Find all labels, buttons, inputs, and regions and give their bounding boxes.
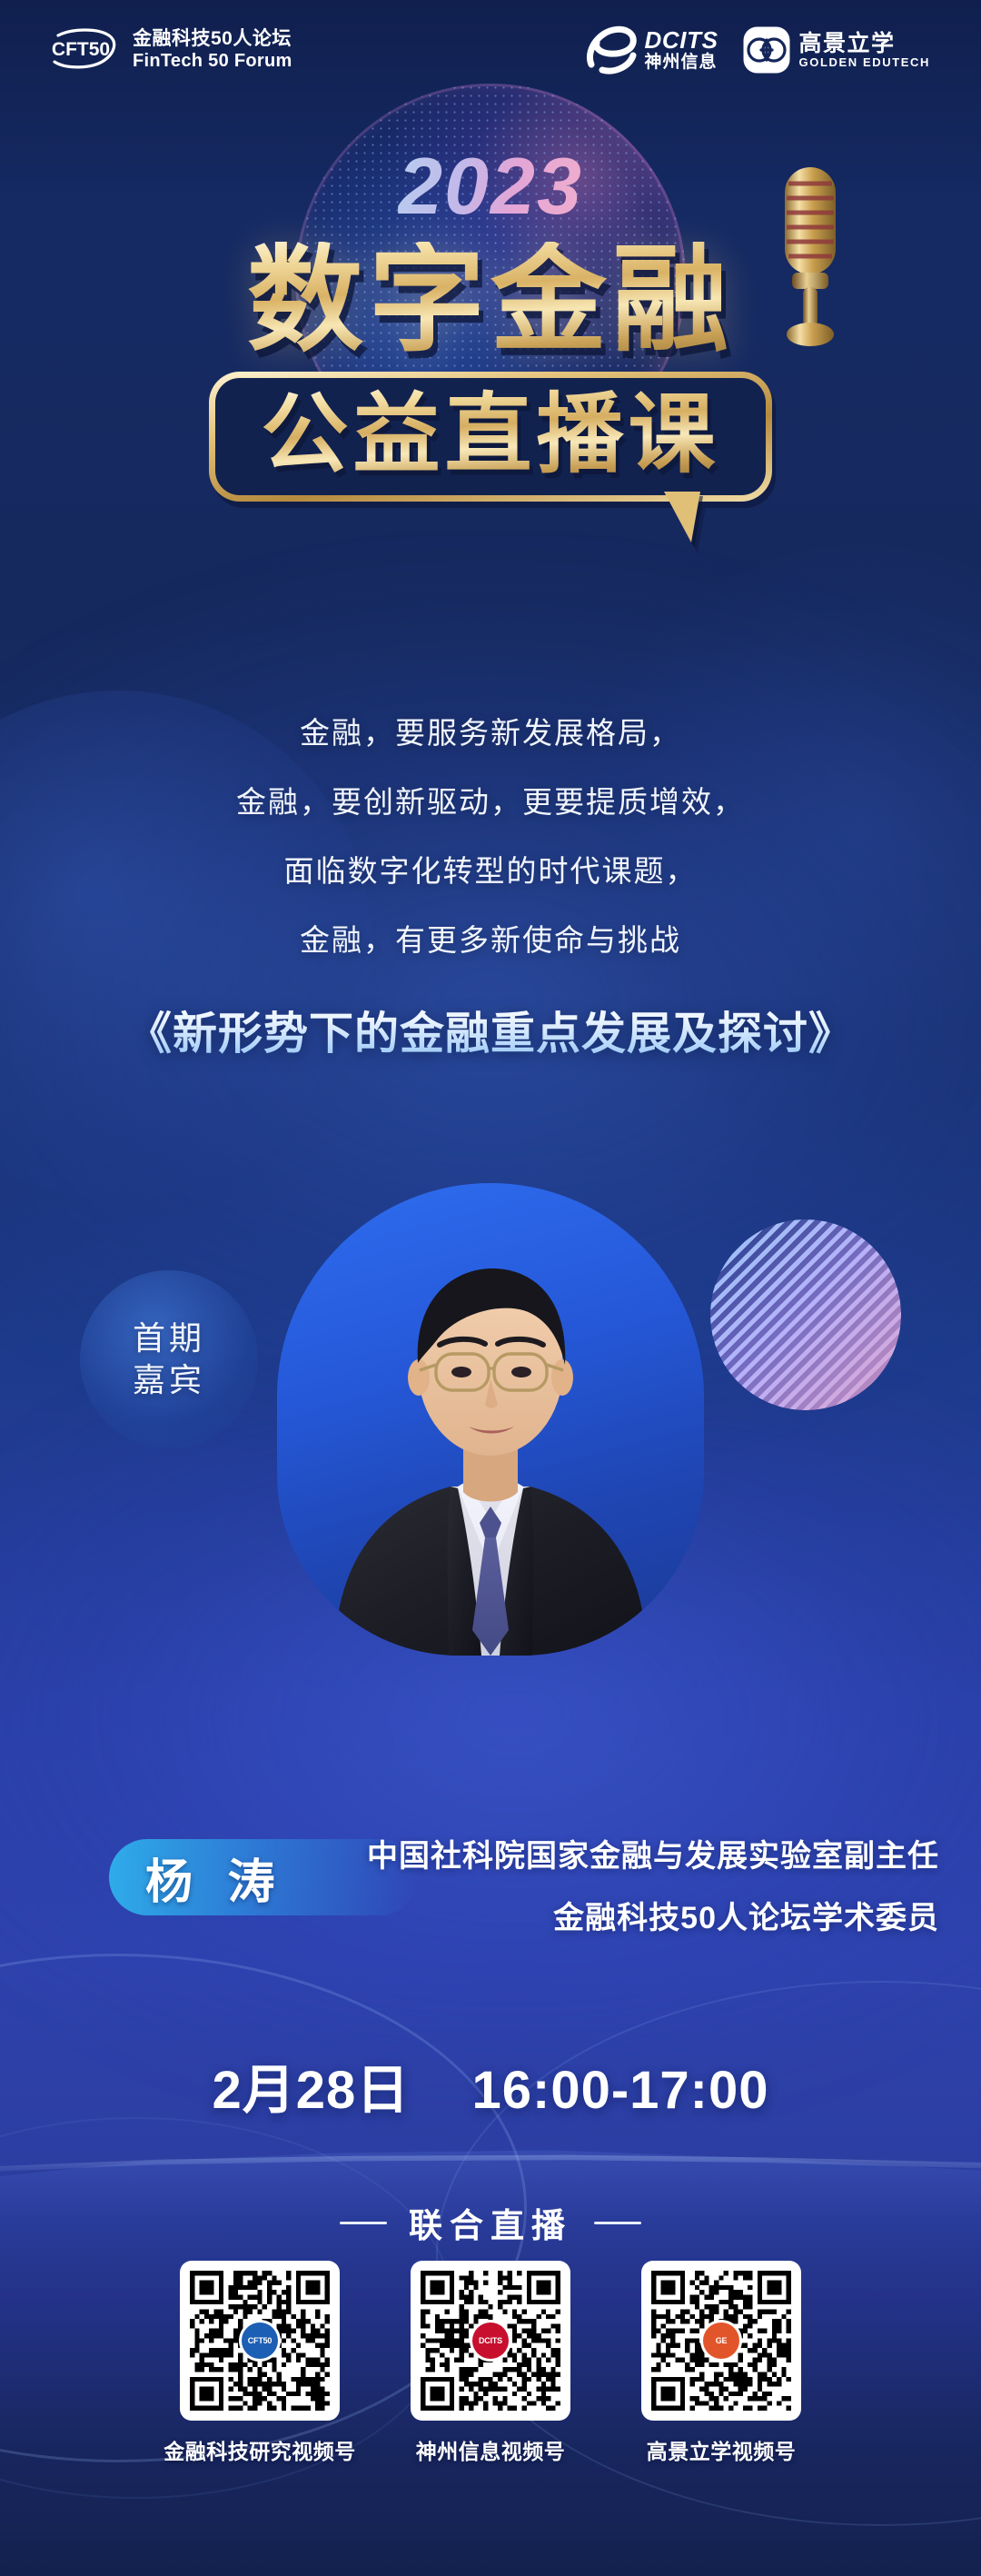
guest-name-row: 杨 涛 中国社科院国家金融与发展实验室副主任 金融科技50人论坛学术委员 [0, 1828, 981, 1983]
guest-titles: 中国社科院国家金融与发展实验室副主任 金融科技50人论坛学术委员 [367, 1841, 939, 1964]
cft50-wordmark: 金融科技50人论坛 FinTech 50 Forum [133, 28, 292, 72]
qr-center-logo-icon: GE [703, 2322, 739, 2359]
schedule-line: 2月28日 16:00-17:00 [0, 2047, 981, 2123]
dcits-swirl-icon [584, 25, 637, 75]
qr-label: 高景立学视频号 [647, 2434, 797, 2465]
qr-item[interactable]: GE 高景立学视频号 [641, 2261, 801, 2465]
hero-section: 2023 [0, 107, 981, 671]
svg-text:CFT50: CFT50 [52, 39, 110, 60]
qr-label: 金融科技研究视频号 [163, 2434, 356, 2465]
first-guest-badge-line2: 嘉宾 [133, 1364, 205, 1397]
cft50-name-cn: 金融科技50人论坛 [133, 28, 292, 51]
guest-section: 首期 嘉宾 [0, 1136, 981, 1890]
hero-title-block: 数字金融 公益直播课 [145, 242, 836, 502]
slogan-line-4: 金融，有更多新使命与挑战 [0, 925, 981, 955]
logo-cft50: CFT50 金融科技50人论坛 FinTech 50 Forum [42, 26, 292, 74]
qr-code-image[interactable]: CFT50 [180, 2261, 340, 2421]
first-guest-badge-line1: 首期 [133, 1322, 205, 1355]
rule-right-icon [594, 2222, 641, 2224]
slogan-line-2: 金融，要创新驱动，更要提质增效， [0, 787, 981, 817]
joint-broadcast-label: 联合直播 [409, 2198, 572, 2247]
striped-circle-decoration [710, 1219, 901, 1410]
partner-logos: DCITS 神州信息 高景立学 GOLDEN EDUTECH [584, 25, 939, 75]
golden-edutech-name-en: GOLDEN EDUTECH [799, 56, 930, 70]
event-year: 2023 [398, 140, 583, 233]
qr-label: 神州信息视频号 [416, 2434, 566, 2465]
rule-left-icon [340, 2222, 387, 2224]
qr-code-image[interactable]: DCITS [411, 2261, 570, 2421]
dcits-name-cn: 神州信息 [645, 54, 718, 73]
logo-dcits: DCITS 神州信息 [584, 25, 718, 75]
golden-edutech-name-cn: 高景立学 [799, 31, 930, 56]
logo-golden-edutech: 高景立学 GOLDEN EDUTECH [742, 25, 930, 75]
slogan-block: 金融，要服务新发展格局， 金融，要创新驱动，更要提质增效， 面临数字化转型的时代… [0, 718, 981, 994]
hero-title-line1: 数字金融 [145, 242, 836, 361]
schedule-date: 2月28日 [212, 2061, 410, 2120]
golden-edutech-mark-icon [742, 25, 791, 75]
slogan-line-1: 金融，要服务新发展格局， [0, 718, 981, 748]
guest-name: 杨 涛 [145, 1844, 285, 1912]
qr-code-row: CFT50 金融科技研究视频号 DCITS 神州信息视频号 GE 高景立学视频号 [0, 2261, 981, 2465]
cft50-name-en: FinTech 50 Forum [133, 51, 292, 73]
qr-center-logo-icon: CFT50 [242, 2322, 278, 2359]
cft50-mark-icon: CFT50 [42, 26, 120, 74]
qr-item[interactable]: DCITS 神州信息视频号 [411, 2261, 570, 2465]
qr-item[interactable]: CFT50 金融科技研究视频号 [180, 2261, 340, 2465]
guest-portrait-backdrop [277, 1183, 704, 1656]
dcits-wordmark: DCITS 神州信息 [645, 27, 718, 72]
speech-bubble-tail-icon [664, 492, 700, 542]
dcits-name-en: DCITS [645, 27, 718, 54]
joint-broadcast-header: 联合直播 [0, 2198, 981, 2247]
guest-title-line1: 中国社科院国家金融与发展实验室副主任 [367, 1841, 939, 1872]
session-topic-title: 《新形势下的金融重点发展及探讨》 [0, 998, 981, 1062]
guest-title-line2: 金融科技50人论坛学术委员 [367, 1903, 939, 1934]
golden-edutech-wordmark: 高景立学 GOLDEN EDUTECH [799, 31, 930, 70]
schedule-time: 16:00-17:00 [472, 2061, 769, 2120]
slogan-line-3: 面临数字化转型的时代课题， [0, 856, 981, 886]
hero-title-frame: 公益直播课 [209, 372, 772, 502]
first-guest-badge: 首期 嘉宾 [80, 1270, 258, 1448]
hero-title-line2: 公益直播课 [215, 389, 766, 482]
qr-code-image[interactable]: GE [641, 2261, 801, 2421]
qr-center-logo-icon: DCITS [472, 2322, 509, 2359]
guest-portrait-photo [312, 1203, 669, 1656]
